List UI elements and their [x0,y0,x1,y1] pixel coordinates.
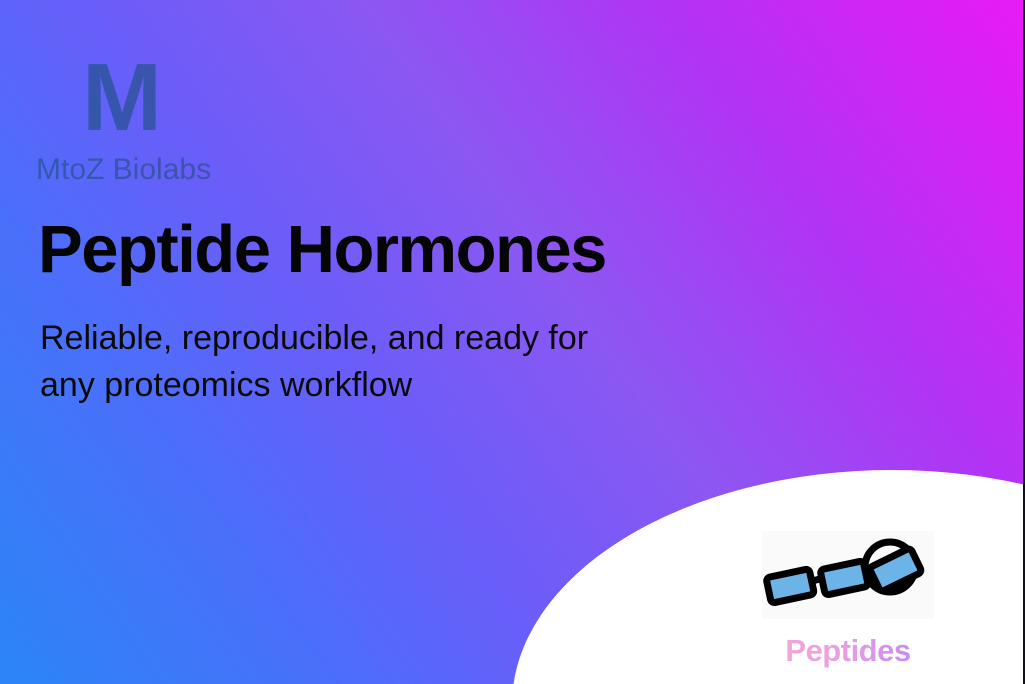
page-subtitle-line-1: Reliable, reproducible, and ready for [40,315,640,362]
peptide-badge-label: Peptides [762,633,934,669]
brand-logo-wordmark: MtoZ Biolabs [36,153,211,187]
page-title: Peptide Hormones [38,214,606,286]
page-subtitle: Reliable, reproducible, and ready for an… [40,315,640,409]
peptide-chain-icon [762,531,934,619]
brand-logo: M MtoZ Biolabs [36,52,211,187]
slide-canvas: M MtoZ Biolabs Peptide Hormones Reliable… [0,0,1025,684]
brand-logo-mark: M [36,52,211,143]
page-subtitle-line-2: any proteomics workflow [40,362,640,409]
peptide-badge: Peptides [762,531,934,669]
